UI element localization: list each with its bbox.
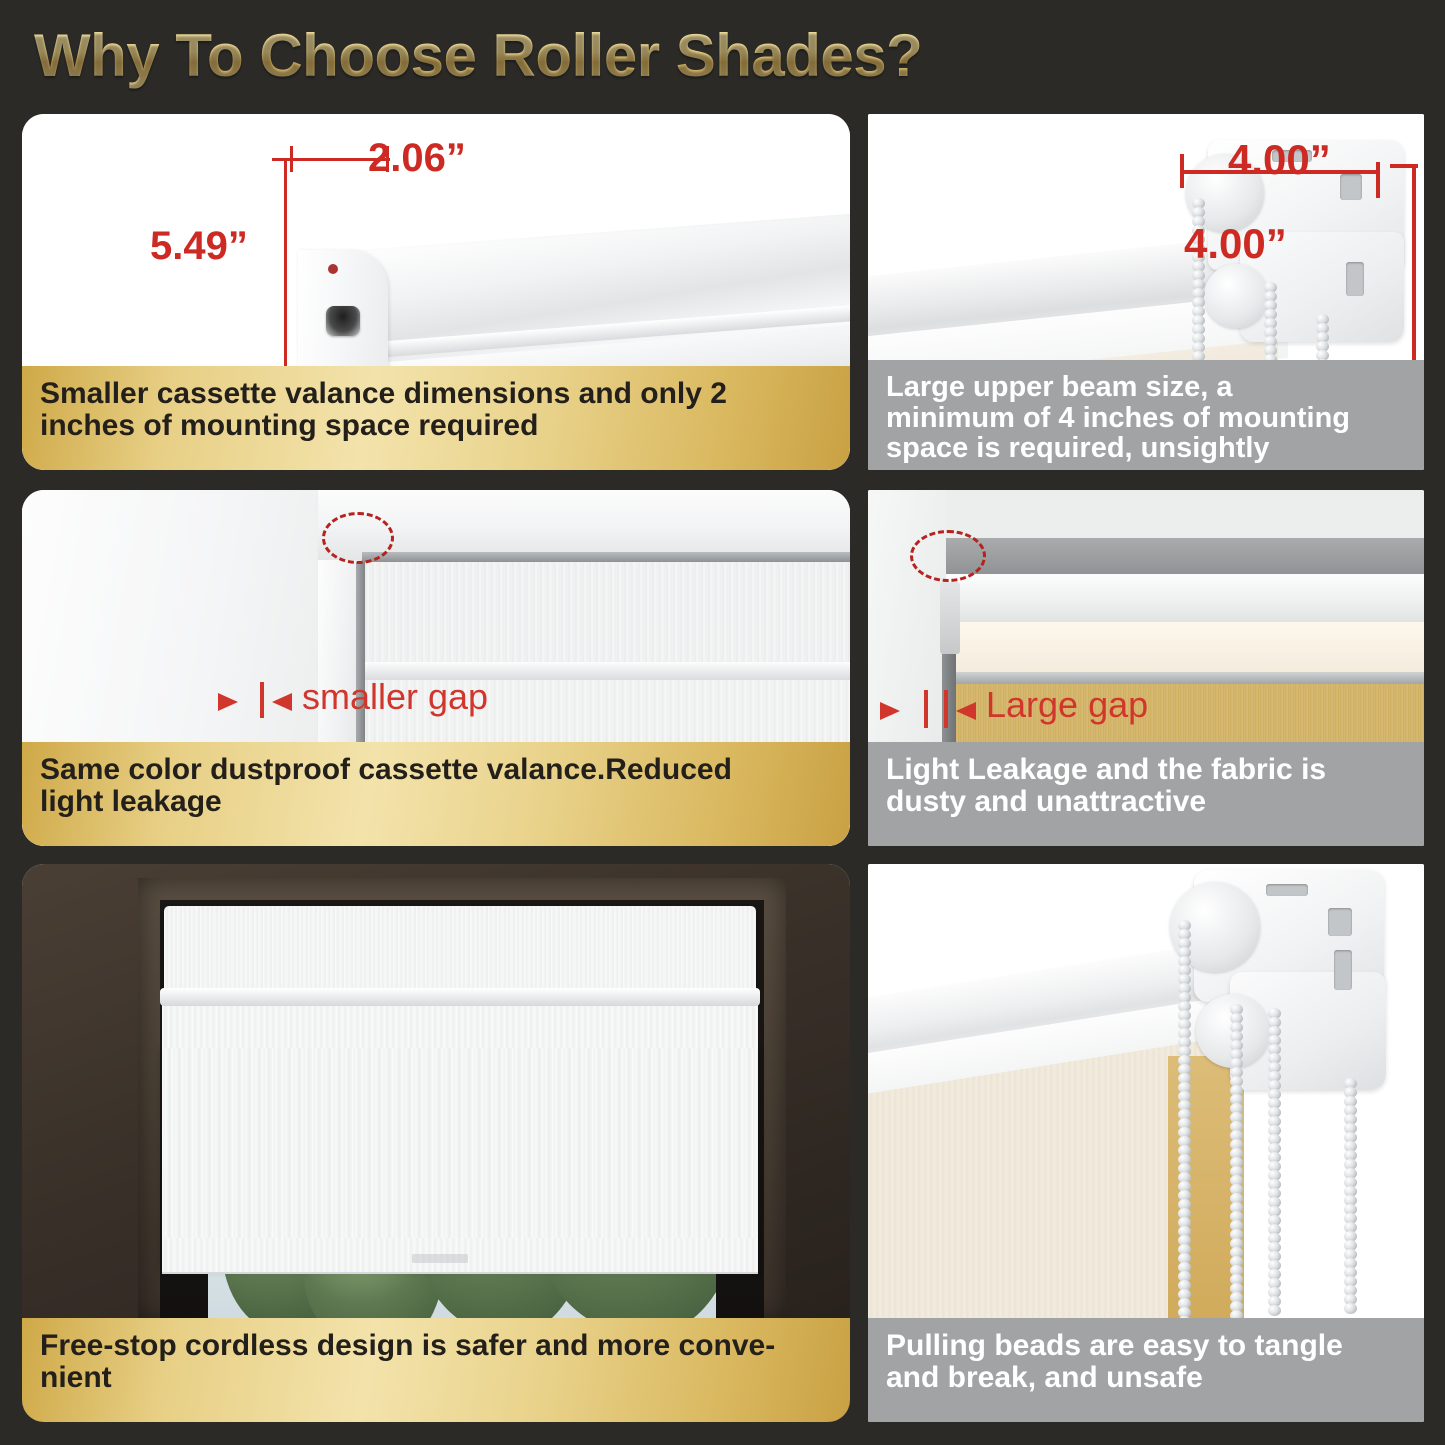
beam-width-tick-left	[1180, 154, 1184, 188]
gap-callout-label: smaller gap	[302, 676, 488, 718]
bracket-slot-b	[1346, 262, 1364, 296]
beam-height-label: 4.00”	[1184, 220, 1287, 268]
bead-chain-right	[1268, 1008, 1281, 1314]
caption-line-1: Pulling beads are easy to tangle	[886, 1330, 1408, 1362]
shade-top-rail	[362, 552, 850, 562]
panel-large-upper-beam: 4.00” 4.00” Large upper beam size, a min…	[868, 114, 1424, 470]
caption-line-2: dusty and unattractive	[886, 786, 1408, 818]
mounting-clip	[940, 582, 960, 654]
panel-caption: Same color dustproof cassette valance.Re…	[22, 742, 850, 846]
bead-chain-left	[1178, 920, 1191, 1325]
gap-tick-a	[924, 690, 928, 728]
page-title: Why To Choose Roller Shades?	[34, 21, 922, 90]
infographic-page: Why To Choose Roller Shades? 2.06” 5.49”	[0, 0, 1445, 1445]
endcap-slot-icon	[326, 306, 360, 336]
caption-line-1: Smaller cassette valance dimensions and …	[40, 378, 834, 410]
caption-line-2: inches of mounting space required	[40, 410, 834, 442]
panel-caption: Large upper beam size, a minimum of 4 in…	[868, 360, 1424, 470]
brand-tag	[412, 1254, 468, 1263]
cassette-valance	[164, 906, 756, 992]
valance-face	[946, 574, 1424, 626]
beam-width-label: 4.00”	[1228, 136, 1331, 184]
height-dimension-label: 5.49”	[150, 224, 248, 269]
caption-line-1: Free-stop cordless design is safer and m…	[40, 1330, 834, 1362]
valance-face-lower	[954, 622, 1424, 674]
caption-line-2: light leakage	[40, 786, 834, 818]
panel-caption: Free-stop cordless design is safer and m…	[22, 1318, 850, 1422]
gap-tick	[260, 682, 264, 718]
endcap-marker-dot	[328, 264, 338, 274]
width-dimension-label: 2.06”	[368, 136, 466, 181]
gap-callout-label: Large gap	[986, 684, 1148, 726]
panel-caption: Pulling beads are easy to tangle and bre…	[868, 1318, 1424, 1422]
gap-tick-b	[944, 690, 948, 728]
caption-line-3: space is required, unsightly	[886, 433, 1408, 464]
caption-line-1: Large upper beam size, a	[886, 372, 1408, 403]
roller-end-disc-2	[1204, 264, 1268, 328]
upper-beam-shadow	[946, 538, 1424, 576]
panel-caption: Light Leakage and the fabric is dusty an…	[868, 742, 1424, 846]
cassette-valance-lip	[160, 988, 760, 1006]
cassette-valance-lower	[162, 1004, 758, 1048]
caption-line-2: minimum of 4 inches of mounting	[886, 403, 1408, 434]
beam-width-tick-right	[1376, 162, 1380, 198]
window-head-trim	[318, 490, 850, 560]
gap-arrow-left-icon	[218, 693, 238, 711]
panel-cassette-dimensions: 2.06” 5.49” Smaller cassette valance dim…	[22, 114, 850, 470]
bead-chain-far-right	[1344, 1078, 1357, 1312]
gap-highlight-circle	[322, 512, 394, 564]
height-dim-tick-top	[272, 158, 300, 161]
panel-caption: Smaller cassette valance dimensions and …	[22, 366, 850, 470]
bracket-slot-a	[1328, 908, 1352, 936]
gap-highlight-circle	[910, 530, 986, 582]
bracket-slot-c	[1266, 884, 1308, 896]
page-title-bar: Why To Choose Roller Shades?	[0, 0, 1445, 110]
bracket-slot-a	[1340, 174, 1362, 200]
caption-line-1: Light Leakage and the fabric is	[886, 754, 1408, 786]
shade-rail	[954, 672, 1424, 684]
gap-arrow-right-icon	[956, 702, 976, 720]
gap-arrow-left-icon	[880, 702, 900, 720]
panel-cordless-design: Free-stop cordless design is safer and m…	[22, 864, 850, 1422]
cassette-valance-face	[364, 562, 850, 666]
panel-light-leakage: Large gap Light Leakage and the fabric i…	[868, 490, 1424, 846]
caption-line-2: nient	[40, 1362, 834, 1394]
panel-dustproof-cassette: smaller gap Same color dustproof cassett…	[22, 490, 850, 846]
panel-pulling-beads: Pulling beads are easy to tangle and bre…	[868, 864, 1424, 1422]
beam-height-tick-top	[1390, 164, 1418, 168]
bead-chain-middle	[1230, 1004, 1243, 1328]
gap-arrow-right-icon	[272, 693, 292, 711]
caption-line-2: and break, and unsafe	[886, 1362, 1408, 1394]
caption-line-1: Same color dustproof cassette valance.Re…	[40, 754, 834, 786]
shade-fabric	[162, 1046, 758, 1266]
bracket-slot-b	[1334, 950, 1352, 990]
